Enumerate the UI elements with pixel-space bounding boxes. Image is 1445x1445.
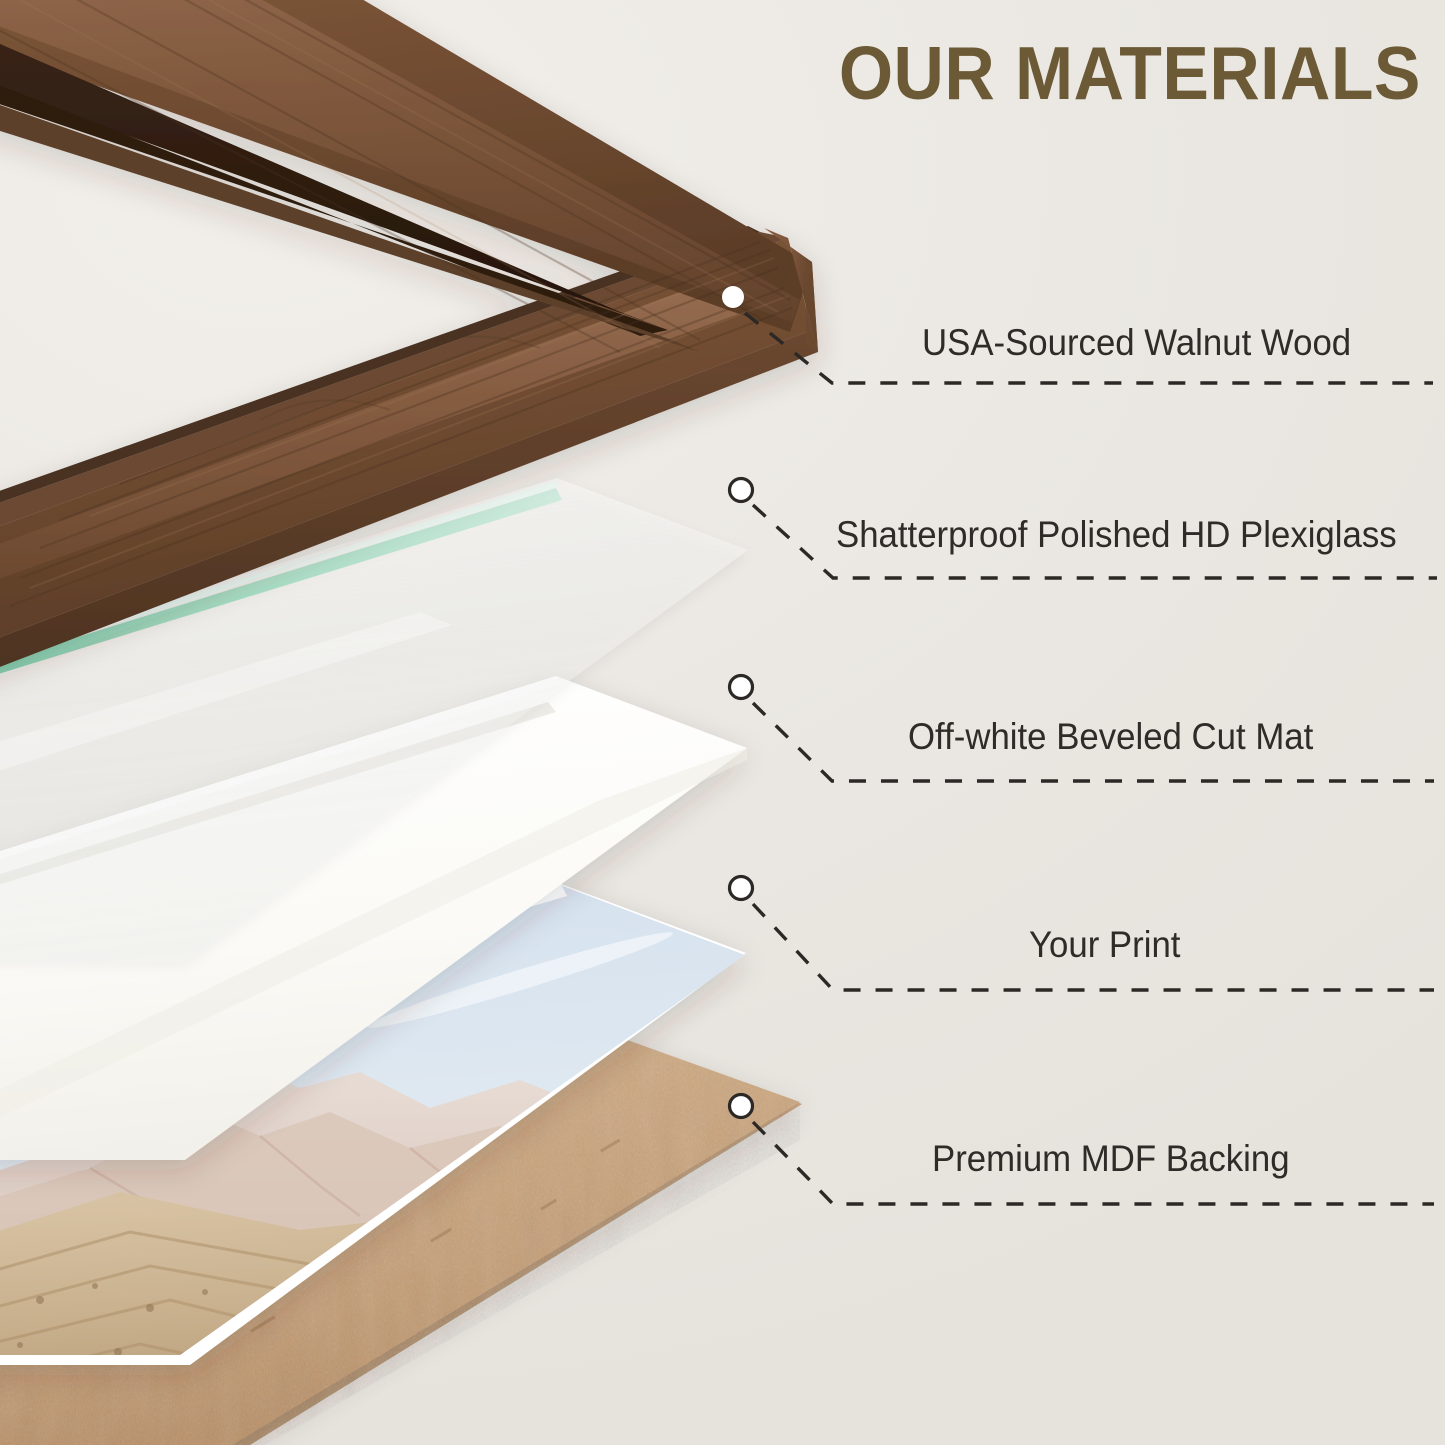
callout-label-plexiglass: Shatterproof Polished HD Plexiglass xyxy=(836,516,1397,553)
callout-dot-cut-mat[interactable] xyxy=(730,676,753,699)
callout-label-mdf-backing: Premium MDF Backing xyxy=(932,1140,1290,1177)
callout-dot-mdf-backing[interactable] xyxy=(730,1095,753,1118)
callout-dot-plexiglass[interactable] xyxy=(730,479,753,502)
callout-dot-your-print[interactable] xyxy=(730,877,753,900)
callout-label-your-print: Your Print xyxy=(1029,926,1180,963)
callout-label-walnut-wood: USA-Sourced Walnut Wood xyxy=(922,324,1351,361)
materials-infographic: OUR MATERIALS USA-Sourced Walnut Wood Sh… xyxy=(0,0,1445,1445)
page-title: OUR MATERIALS xyxy=(839,36,1421,111)
callout-dot-walnut-wood[interactable] xyxy=(722,286,744,308)
callout-label-cut-mat: Off-white Beveled Cut Mat xyxy=(908,718,1313,755)
